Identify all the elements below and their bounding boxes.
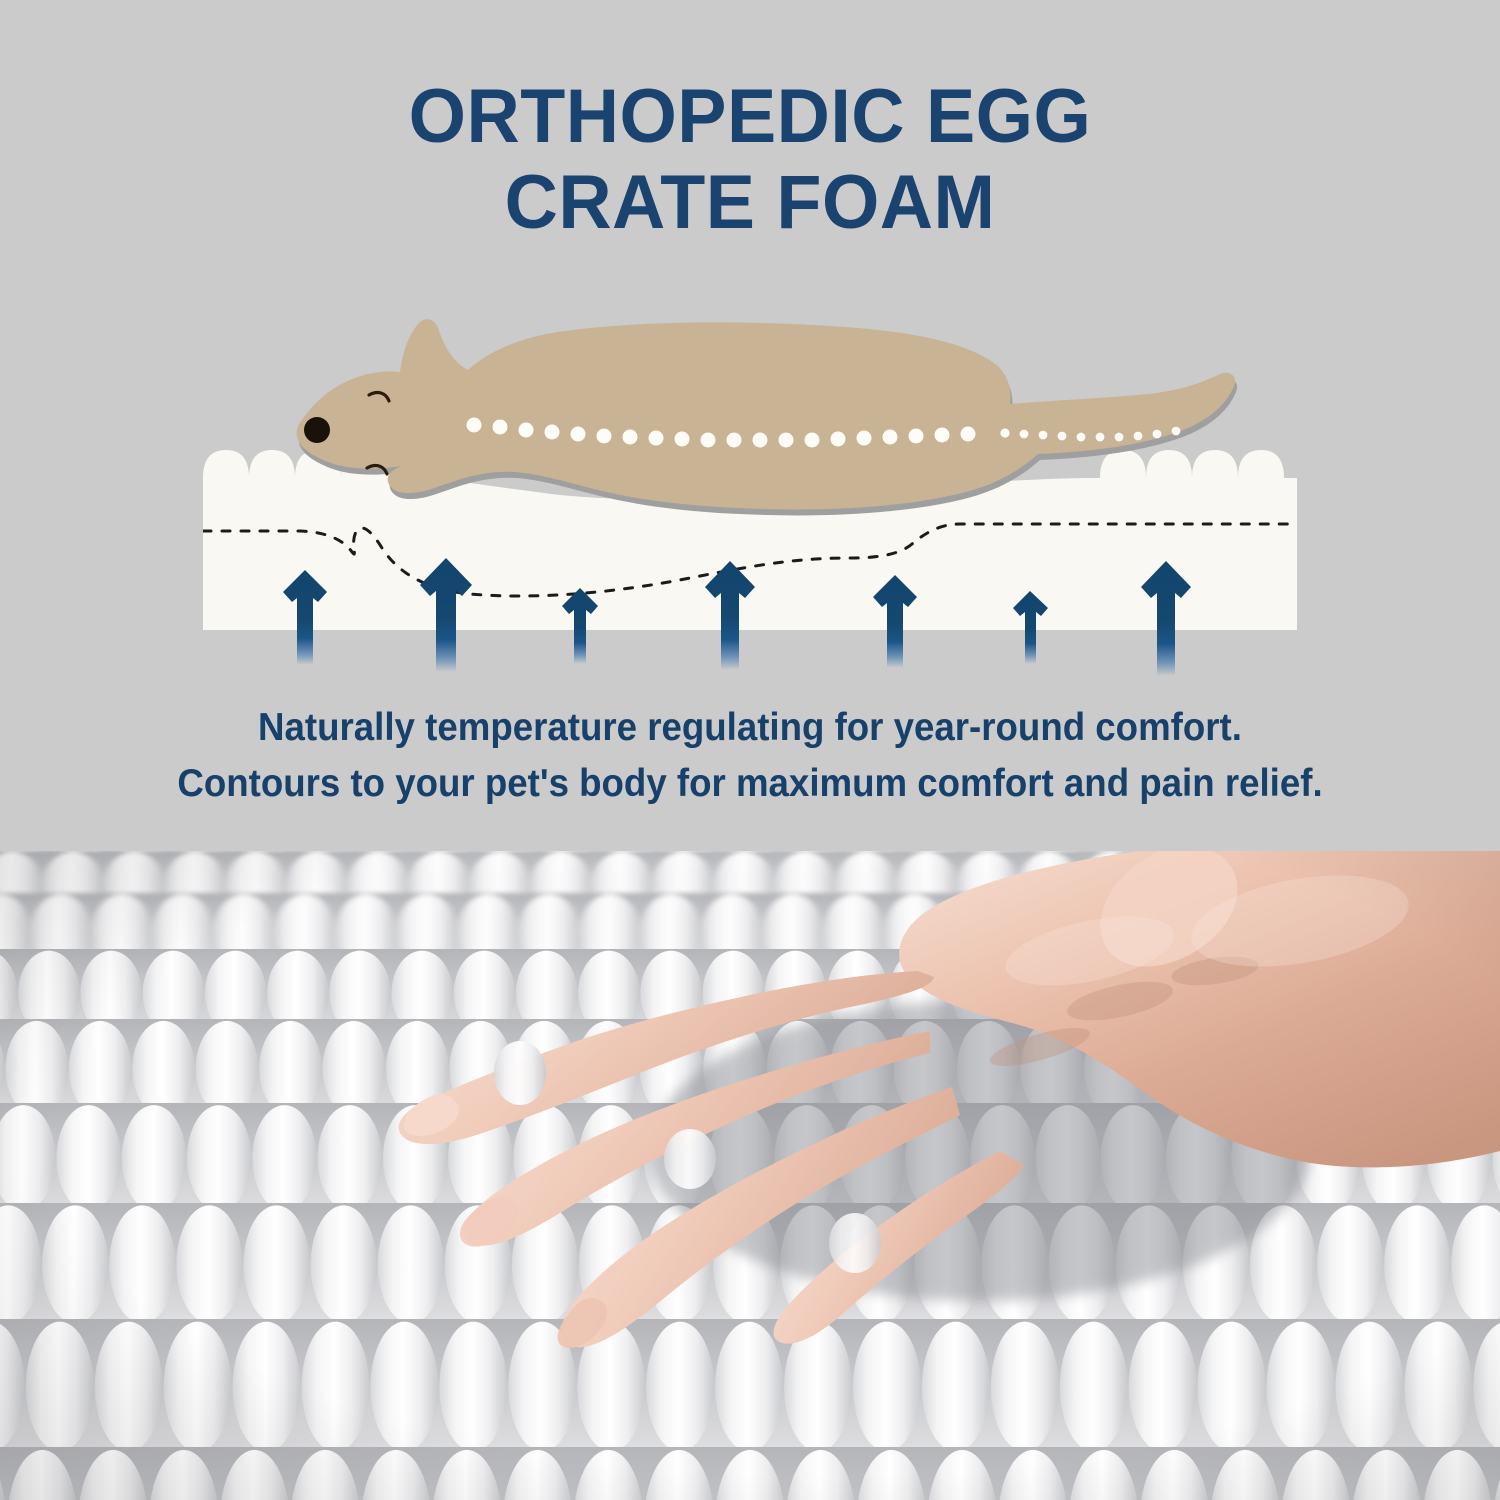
dog-nose — [304, 417, 330, 443]
page-title: ORTHOPEDIC EGG CRATE FOAM — [23, 74, 1478, 246]
caption-line-2: Contours to your pet's body for maximum … — [45, 756, 1455, 812]
foam-photo-panel — [0, 851, 1500, 1500]
hand-on-foam-photo — [0, 851, 1500, 1500]
caption-line-1: Naturally temperature regulating for yea… — [45, 700, 1455, 756]
infographic-page: ORTHOPEDIC EGG CRATE FOAM — [0, 0, 1500, 1500]
infographic-top-panel: ORTHOPEDIC EGG CRATE FOAM — [0, 0, 1500, 851]
foam-cross-section-diagram — [0, 300, 1500, 690]
caption-block: Naturally temperature regulating for yea… — [45, 700, 1455, 812]
